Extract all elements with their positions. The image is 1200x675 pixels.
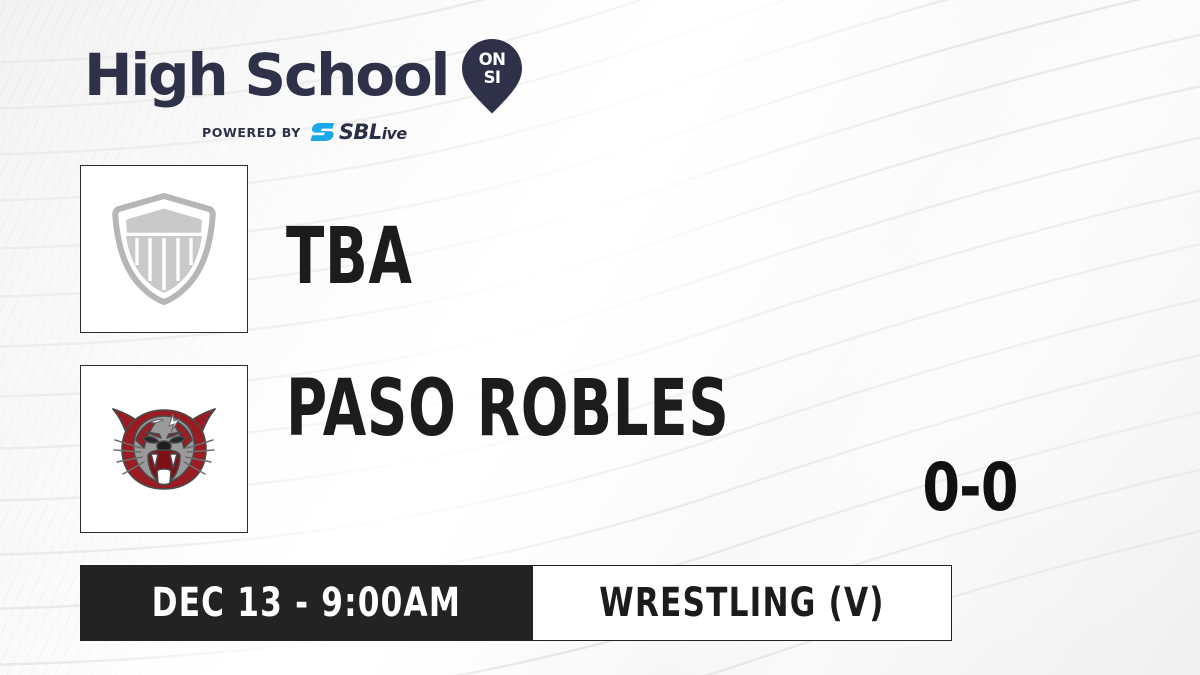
game-sport-text: WRESTLING (V) [599,583,884,623]
sblive-word-suffix: ive [382,124,407,143]
sblive-logo: SBLive [310,121,407,143]
brand-lockup: High School ON SI POWERED BY SBLive [84,38,523,143]
sblive-word-main: SBL [339,120,382,144]
brand-primary-row: High School ON SI [84,38,523,114]
sblive-s-mark-icon [310,121,336,143]
svg-text:SI: SI [484,68,501,87]
brand-title: High School [84,49,448,102]
on-si-pin-icon: ON SI [461,38,523,114]
placeholder-shield-icon [112,193,216,305]
team-logo-box-1[interactable] [80,165,248,333]
game-info-bar: DEC 13 - 9:00AM WRESTLING (V) [80,565,952,641]
game-datetime-block: DEC 13 - 9:00AM [80,565,533,641]
game-matchup-card: High School ON SI POWERED BY SBLive [0,0,1200,675]
game-datetime-text: DEC 13 - 9:00AM [152,583,461,623]
game-sport-block: WRESTLING (V) [533,565,952,641]
powered-by-label: POWERED BY [202,125,301,140]
svg-text:ON: ON [479,50,506,69]
team-name-1: TBA [286,218,413,296]
powered-by-row: POWERED BY SBLive [202,121,523,143]
score-display: 0-0 [863,455,1076,521]
team-logo-box-2[interactable] [80,365,248,533]
team-name-2: PASO ROBLES [286,370,730,448]
sblive-wordmark: SBLive [339,122,407,143]
bearcat-mascot-icon [101,386,227,512]
